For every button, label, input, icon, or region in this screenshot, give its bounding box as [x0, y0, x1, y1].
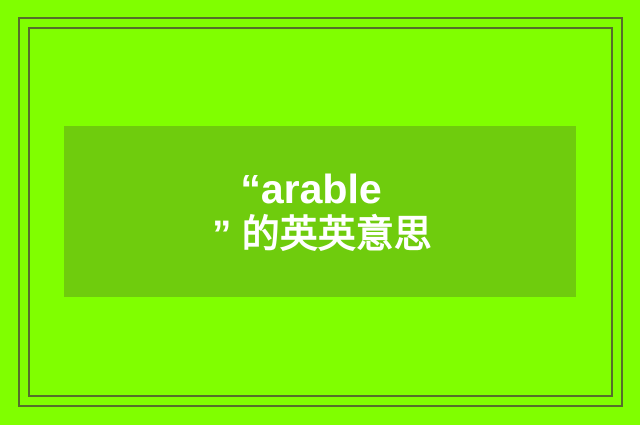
title-content-panel: “arable ” 的英英意思: [64, 126, 576, 297]
image-canvas: “arable ” 的英英意思: [0, 0, 640, 425]
title-line-secondary: ” 的英英意思: [208, 216, 432, 254]
title-line-primary: “arable: [240, 169, 399, 210]
